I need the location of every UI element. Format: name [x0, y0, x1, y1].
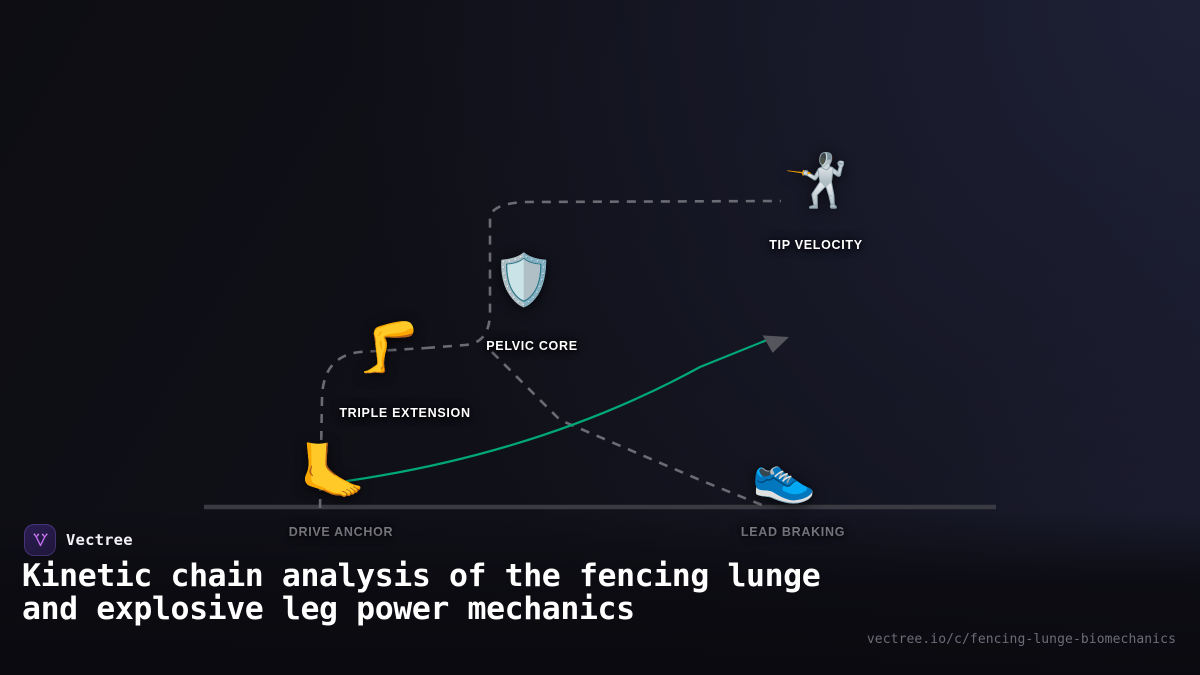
poster-canvas: 🦶DRIVE ANCHOR🦵TRIPLE EXTENSION🛡️PELVIC C…	[0, 0, 1200, 675]
node-label-pelvic-core: PELVIC CORE	[486, 339, 578, 353]
vectree-branch-v-icon	[24, 524, 56, 556]
shield-icon[interactable]: 🛡️	[493, 255, 555, 305]
node-label-tip-velocity: TIP VELOCITY	[769, 238, 863, 252]
fencer-icon[interactable]: 🤺	[784, 155, 849, 207]
flow-arrowhead	[763, 327, 793, 354]
foot-icon[interactable]: 🦶	[299, 445, 366, 499]
poster-footer: Vectree Kinetic chain analysis of the fe…	[0, 510, 1200, 675]
page-title: Kinetic chain analysis of the fencing lu…	[22, 560, 852, 626]
node-label-triple-extension: TRIPLE EXTENSION	[339, 406, 470, 420]
source-url: vectree.io/c/fencing-lunge-biomechanics	[867, 632, 1176, 647]
edge-pelvic-core-to-lead-braking	[492, 352, 762, 505]
sneaker-icon[interactable]: 👟	[752, 450, 817, 502]
brand-name: Vectree	[66, 531, 133, 549]
brand-block: Vectree	[24, 524, 133, 556]
leg-icon[interactable]: 🦵	[358, 322, 420, 372]
edge-triple-extension-to-pelvic-core	[426, 201, 781, 348]
